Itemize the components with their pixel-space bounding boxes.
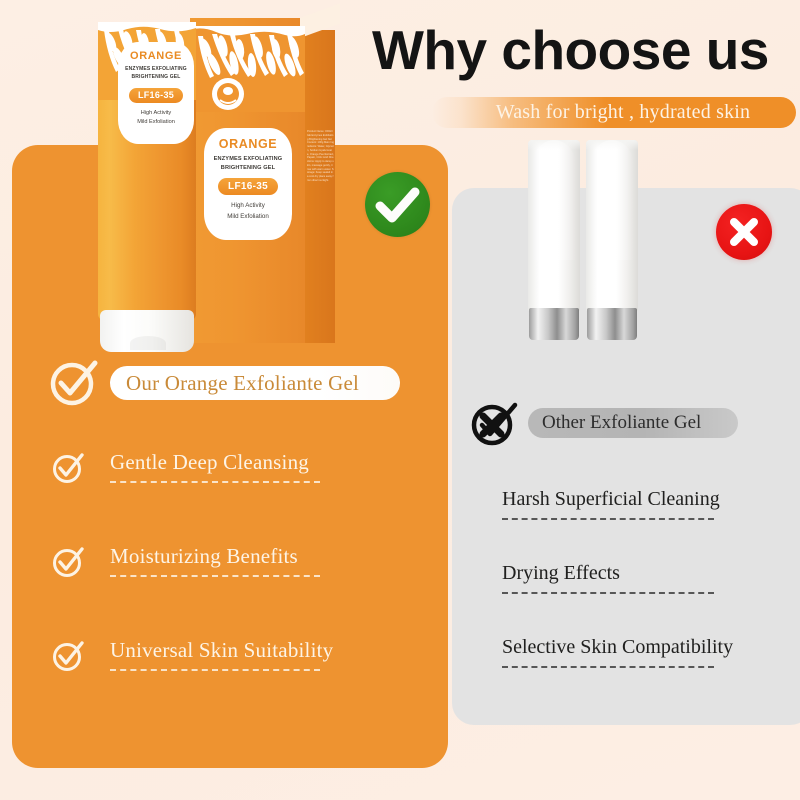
list-item: Gentle Deep Cleansing — [48, 450, 388, 496]
box-side-face — [305, 30, 335, 343]
product-box: ORANGE ENZYMES EXFOLIATING BRIGHTENING G… — [190, 18, 335, 343]
blank-tube-cap — [587, 308, 637, 340]
circle-check-icon — [52, 640, 84, 672]
feature-label: Universal Skin Suitability — [110, 638, 333, 663]
box-claims: High Activity Mild Exfoliation — [227, 201, 269, 222]
our-product-title: Our Orange Exfoliante Gel — [126, 371, 359, 396]
blank-tube-body — [528, 140, 580, 312]
list-item: Selective Skin Compatibility — [502, 636, 772, 680]
feature-underline — [110, 575, 320, 577]
subtitle-text: Wash for bright , hydrated skin — [478, 101, 751, 124]
feature-label: Harsh Superficial Cleaning — [502, 488, 720, 511]
leaf-pattern-icon — [190, 26, 305, 112]
tube-descriptor: ENZYMES EXFOLIATING BRIGHTENING GEL — [118, 66, 194, 82]
green-check-badge — [365, 172, 430, 237]
tube-label: ORANGE ENZYMES EXFOLIATING BRIGHTENING G… — [118, 42, 194, 144]
circle-check-icon — [52, 546, 84, 578]
feature-label: Moisturizing Benefits — [110, 544, 298, 569]
feature-underline — [502, 666, 714, 668]
tube-cap — [100, 310, 194, 352]
box-descriptor: ENZYMES EXFOLIATING BRIGHTENING GEL — [204, 155, 292, 172]
tube-product-code: LF16-35 — [129, 88, 183, 103]
circle-check-icon — [48, 358, 98, 408]
subtitle-banner: Wash for bright , hydrated skin — [432, 97, 796, 128]
infographic-canvas: Why choose us Wash for bright , hydrated… — [0, 0, 800, 800]
list-item: Harsh Superficial Cleaning — [502, 488, 772, 532]
feature-underline — [110, 669, 320, 671]
feature-underline — [502, 592, 714, 594]
box-label: ORANGE ENZYMES EXFOLIATING BRIGHTENING G… — [204, 128, 292, 240]
blank-tube — [528, 140, 580, 340]
circle-check-icon — [52, 452, 84, 484]
tube-brand-name: ORANGE — [130, 50, 182, 62]
circle-x-icon — [470, 400, 518, 448]
box-product-code: LF16-35 — [218, 178, 278, 195]
feature-label: Gentle Deep Cleansing — [110, 450, 309, 475]
box-fineprint: Product Name: ORANGE Enzymes Exfoliating… — [307, 130, 334, 183]
our-product-image: ORANGE ENZYMES EXFOLIATING BRIGHTENING G… — [72, 0, 342, 360]
blank-tube-highlight — [532, 140, 576, 260]
feature-label: Selective Skin Compatibility — [502, 636, 733, 659]
feature-underline — [110, 481, 320, 483]
product-tube: ORANGE ENZYMES EXFOLIATING BRIGHTENING G… — [92, 22, 202, 352]
our-product-header-row: Our Orange Exfoliante Gel — [48, 358, 414, 408]
other-product-image — [528, 140, 658, 340]
blank-tube-cap — [529, 308, 579, 340]
blank-tube-body — [586, 140, 638, 312]
red-x-badge — [716, 204, 772, 260]
blank-tube-highlight — [590, 140, 634, 260]
feature-label: Drying Effects — [502, 562, 620, 585]
feature-underline — [502, 518, 714, 520]
tube-claims: High Activity Mild Exfoliation — [137, 109, 175, 128]
box-brand-name: ORANGE — [219, 137, 277, 151]
list-item: Moisturizing Benefits — [48, 544, 388, 590]
other-product-title-pill: Other Exfoliante Gel — [528, 408, 738, 438]
blank-tube — [586, 140, 638, 340]
other-product-title: Other Exfoliante Gel — [542, 412, 701, 434]
list-item: Universal Skin Suitability — [48, 638, 388, 684]
page-title: Why choose us — [372, 22, 796, 80]
other-product-header-row: Other Exfoliante Gel — [470, 400, 770, 448]
list-item: Drying Effects — [502, 562, 772, 606]
our-product-title-pill: Our Orange Exfoliante Gel — [110, 366, 400, 400]
